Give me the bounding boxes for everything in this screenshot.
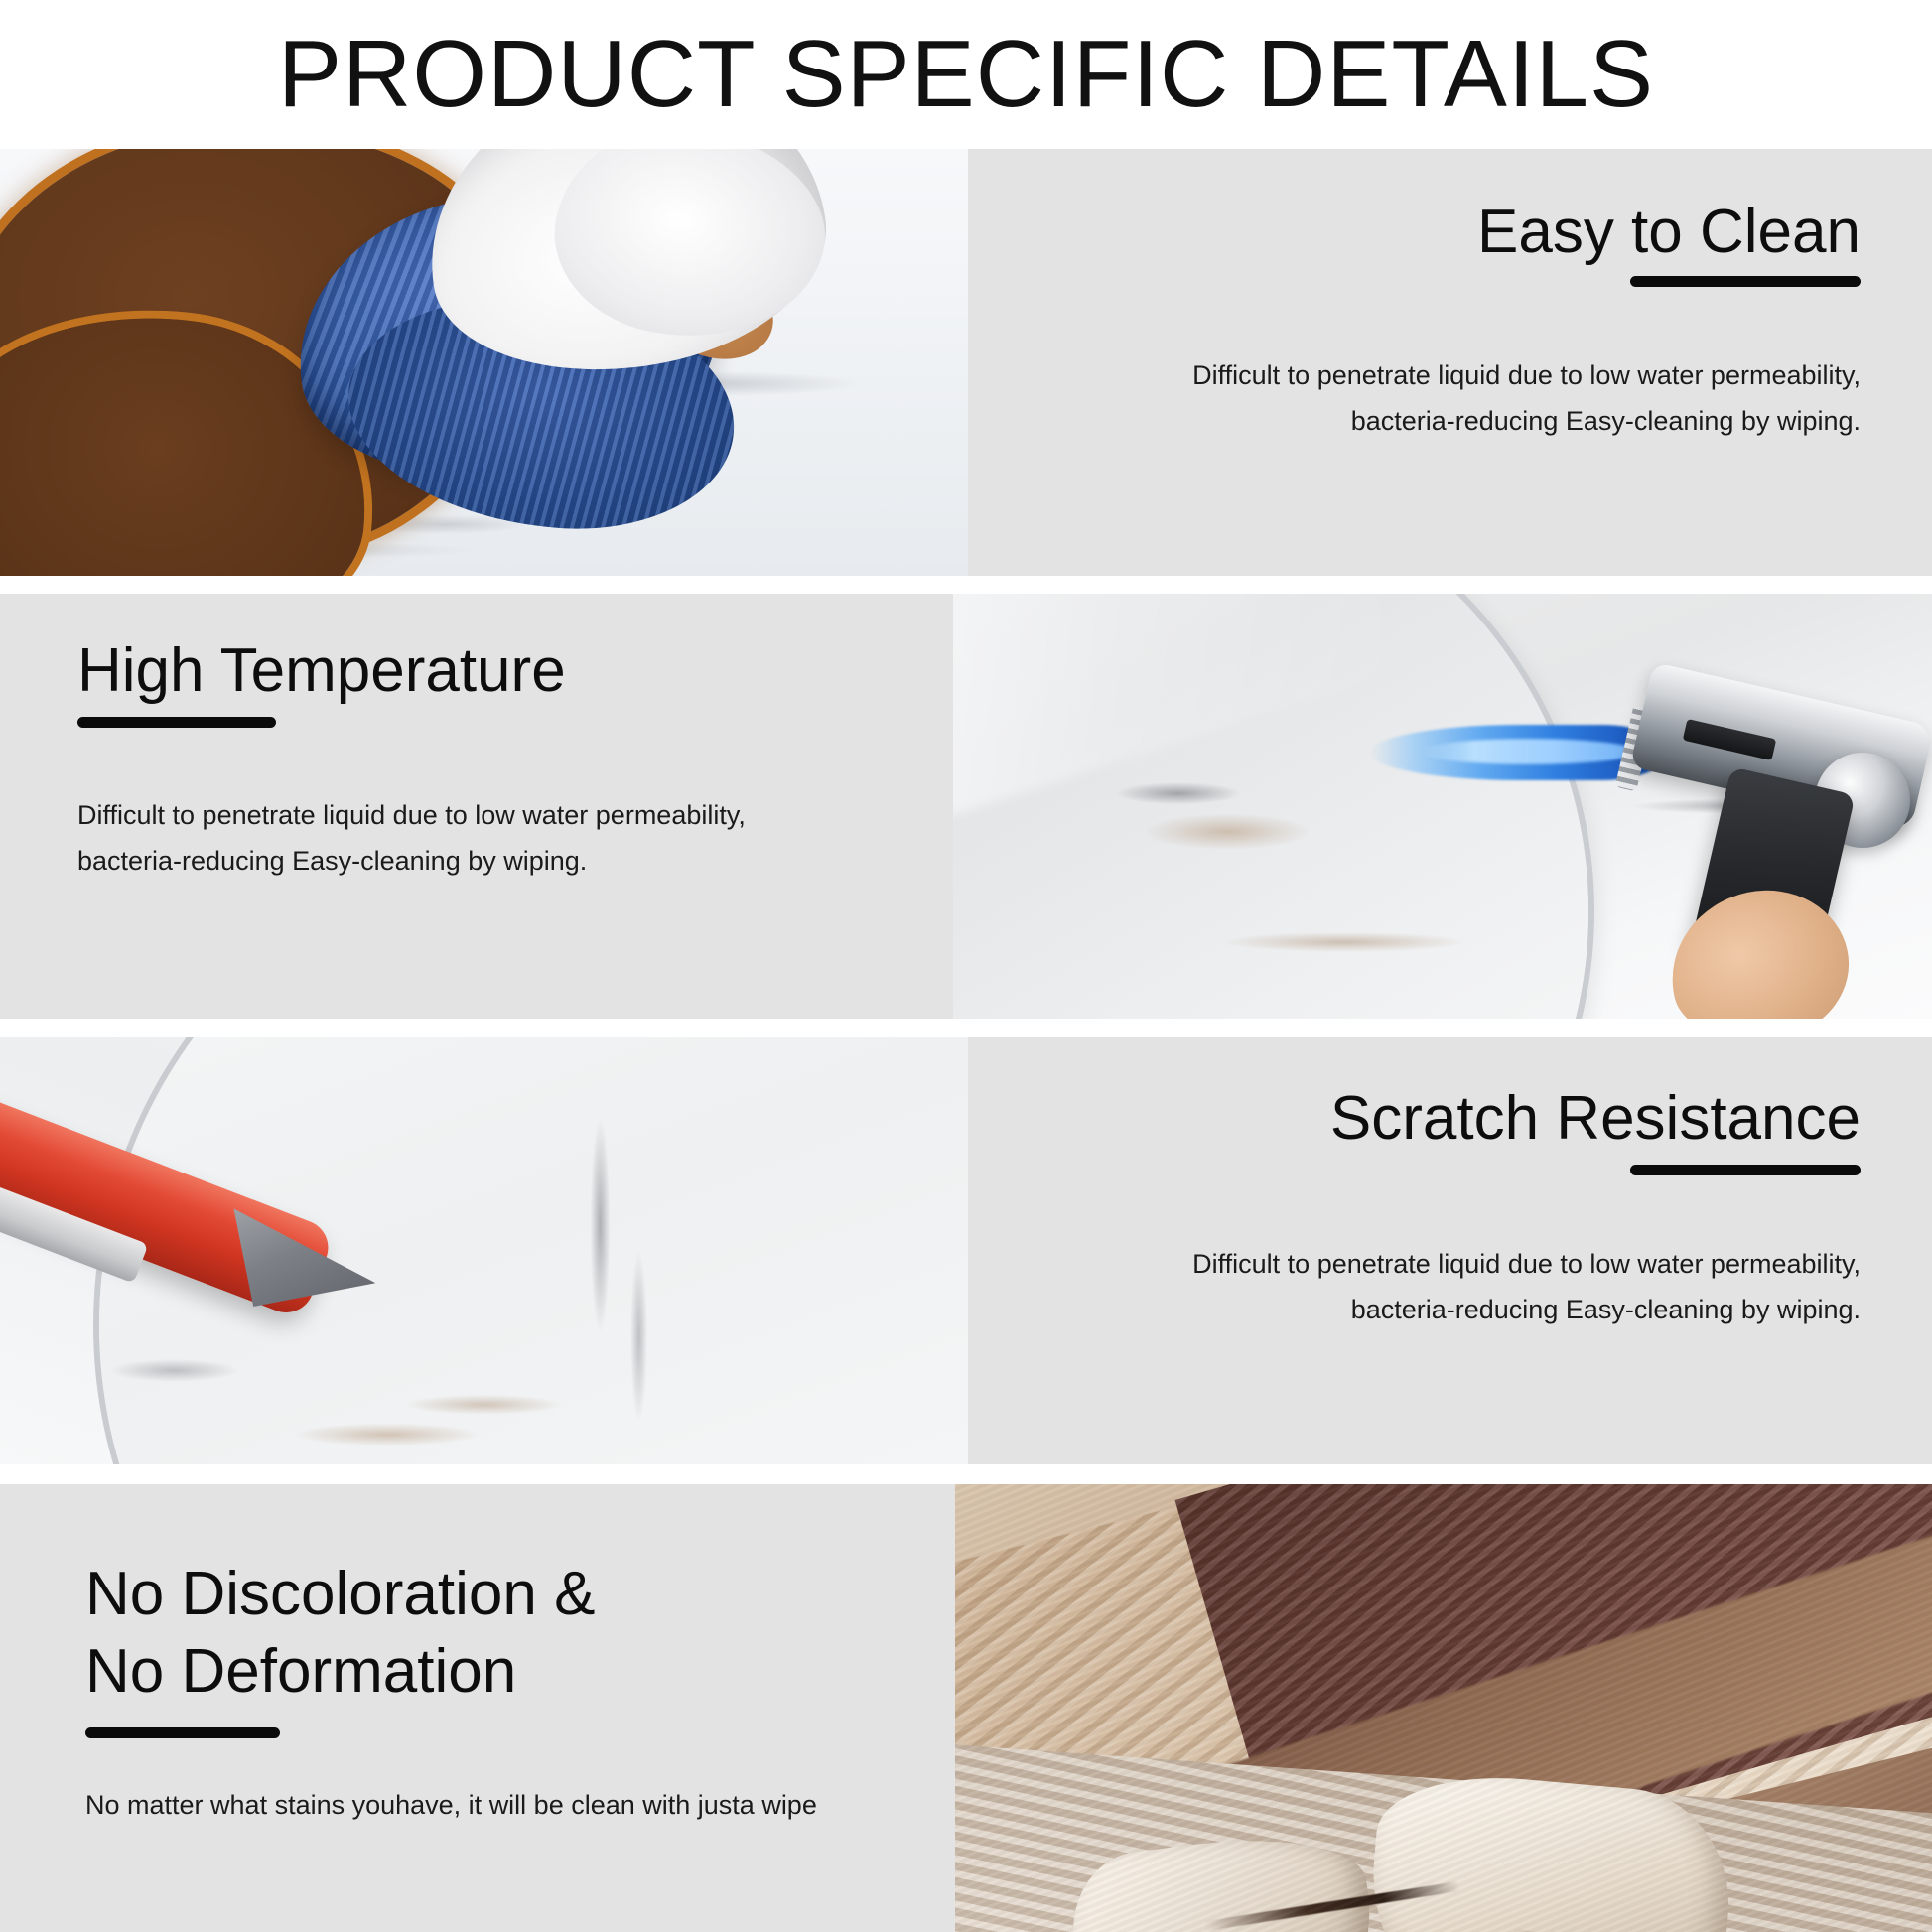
section-title-easy-to-clean: Easy to Clean [1106,197,1861,268]
section-title-no-discoloration: No Discoloration & No Deformation [85,1556,899,1711]
section-body-no-discoloration: No matter what stains youhave, it will b… [85,1782,959,1828]
product-details-page: PRODUCT SPECIFIC DETAILS Easy to Clean D… [0,0,1932,1932]
section-title-scratch-resistance: Scratch Resistance [1046,1083,1861,1155]
section-copy-high-temperature: High Temperature Difficult to penetrate … [0,594,953,1019]
section-scratch-resistance: Scratch Resistance Difficult to penetrat… [0,1037,1932,1464]
title-underline-no-discoloration [85,1727,280,1738]
section-copy-easy-to-clean: Easy to Clean Difficult to penetrate liq… [968,149,1932,576]
section-image-high-temperature [953,594,1932,1019]
section-body-high-temperature: Difficult to penetrate liquid due to low… [77,792,911,884]
section-easy-to-clean: Easy to Clean Difficult to penetrate liq… [0,149,1932,576]
section-body-scratch-resistance: Difficult to penetrate liquid due to low… [1046,1241,1861,1332]
stone-grain-texture [955,1484,1932,1932]
section-image-no-discoloration [955,1484,1932,1932]
title-underline-scratch-resistance [1630,1165,1861,1175]
section-no-discoloration: No Discoloration & No Deformation No mat… [0,1484,1932,1932]
page-header: PRODUCT SPECIFIC DETAILS [0,0,1932,149]
section-copy-no-discoloration: No Discoloration & No Deformation No mat… [0,1484,955,1932]
section-high-temperature: High Temperature Difficult to penetrate … [0,594,1932,1019]
title-underline-easy-to-clean [1630,276,1861,287]
page-title: PRODUCT SPECIFIC DETAILS [278,20,1654,129]
title-underline-high-temperature [77,717,276,728]
section-image-easy-to-clean [0,149,968,576]
section-image-scratch-resistance [0,1037,968,1464]
section-title-high-temperature: High Temperature [77,635,872,707]
torch-flame-core [1420,739,1638,764]
section-body-easy-to-clean: Difficult to penetrate liquid due to low… [1106,352,1861,444]
section-copy-scratch-resistance: Scratch Resistance Difficult to penetrat… [968,1037,1932,1464]
